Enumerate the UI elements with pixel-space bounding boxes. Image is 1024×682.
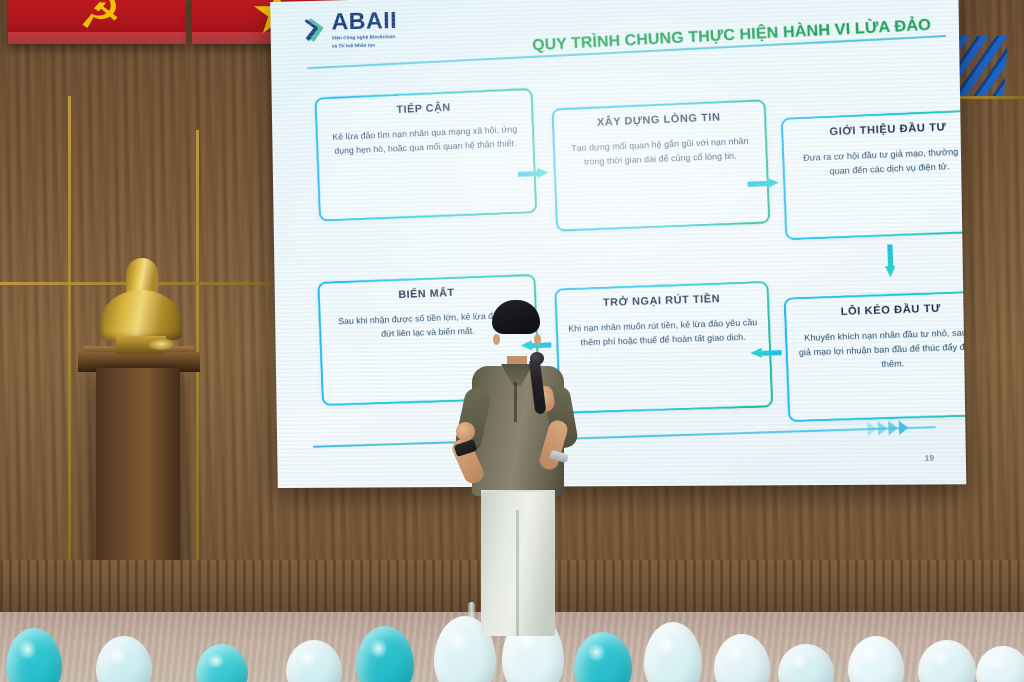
communist-party-flag: ☭: [8, 0, 186, 44]
wall-gold-trim-1: [68, 96, 71, 636]
chevron-icon: [888, 421, 898, 436]
presenter-ear-left: [493, 334, 500, 345]
chevron-icon: [867, 421, 877, 436]
bust-torso: [100, 290, 182, 340]
presenter: [452, 300, 580, 636]
arrow-right-icon: [747, 178, 779, 188]
flow-box-xay-dung-long-tin: XÂY DỰNG LÒNG TIN Tạo dựng mối quan hệ g…: [551, 99, 770, 232]
presenter-trousers: [481, 492, 555, 636]
arrow-head: [750, 348, 762, 359]
slide-page-number: 19: [925, 453, 935, 463]
flow-box-body: Kẻ lừa đảo tìm nạn nhân qua mạng xã hội,…: [328, 123, 523, 159]
flow-box-body: Tạo dựng mối quan hệ gắn gũi với nạn nhâ…: [565, 135, 756, 171]
microphone-head-icon: [529, 351, 544, 366]
flow-box-title: TIẾP CẬN: [327, 98, 521, 120]
flow-box-tro-ngai-rut-tien: TRỞ NGẠI RÚT TIỀN Khi nạn nhân muốn rút …: [554, 281, 773, 414]
flow-box-body: Khuyến khích nạn nhân đầu tư nhỏ, sau đó…: [797, 326, 966, 375]
flow-box-loi-keo-dau-tu: LÔI KÉO ĐẦU TƯ Khuyến khích nạn nhân đầu…: [783, 290, 966, 422]
flow-box-gioi-thieu-dau-tu: GIỚI THIỆU ĐẦU TƯ Đưa ra cơ hội đầu tư g…: [781, 109, 967, 241]
presenter-fist-left: [456, 422, 475, 441]
flow-box-title: GIỚI THIỆU ĐẦU TƯ: [793, 119, 966, 141]
arrow-shaft: [887, 244, 893, 267]
arrow-down-icon: [885, 244, 896, 277]
photo-scene: ☭ ★ ABAII: [0, 0, 1024, 682]
arrow-head: [537, 167, 549, 178]
process-flow-diagram: TIẾP CẬN Kẻ lừa đảo tìm nạn nhân qua mạn…: [270, 0, 966, 488]
arrow-right-icon: [518, 169, 549, 179]
flow-box-tiep-can: TIẾP CẬN Kẻ lừa đảo tìm nạn nhân qua mạn…: [314, 88, 537, 222]
ho-chi-minh-bust-icon: [96, 258, 186, 354]
arrow-head: [767, 177, 779, 188]
chevron-icon: [899, 420, 909, 435]
footer-chevrons-icon: [867, 420, 909, 436]
presenter-ear-right: [534, 334, 541, 345]
slide-surface: ABAII Viện Công nghệ Blockchain và Trí t…: [270, 0, 966, 488]
bust-base: [116, 336, 166, 354]
flow-box-title: XÂY DỰNG LÒNG TIN: [564, 110, 754, 132]
bust-emblem-icon: [148, 338, 174, 350]
flow-box-title: LÔI KÉO ĐẦU TƯ: [796, 301, 966, 321]
hammer-sickle-icon: ☭: [54, 0, 146, 38]
arrow-left-icon: [750, 348, 782, 358]
chevron-icon: [878, 421, 888, 436]
projection-screen: ABAII Viện Công nghệ Blockchain và Trí t…: [270, 0, 966, 488]
flow-box-body: Đưa ra cơ hội đầu tư giả mạo, thường liê…: [794, 144, 966, 180]
flow-box-body: Khi nạn nhân muốn rút tiền, kẻ lừa đảo y…: [568, 316, 759, 351]
arrow-shaft: [761, 350, 782, 356]
arrow-shaft: [748, 181, 769, 187]
arrow-shaft: [518, 171, 539, 177]
arrow-head: [885, 266, 896, 278]
presenter-shirt-placket: [514, 382, 517, 422]
flow-box-title: TRỞ NGẠI RÚT TIỀN: [567, 291, 757, 311]
